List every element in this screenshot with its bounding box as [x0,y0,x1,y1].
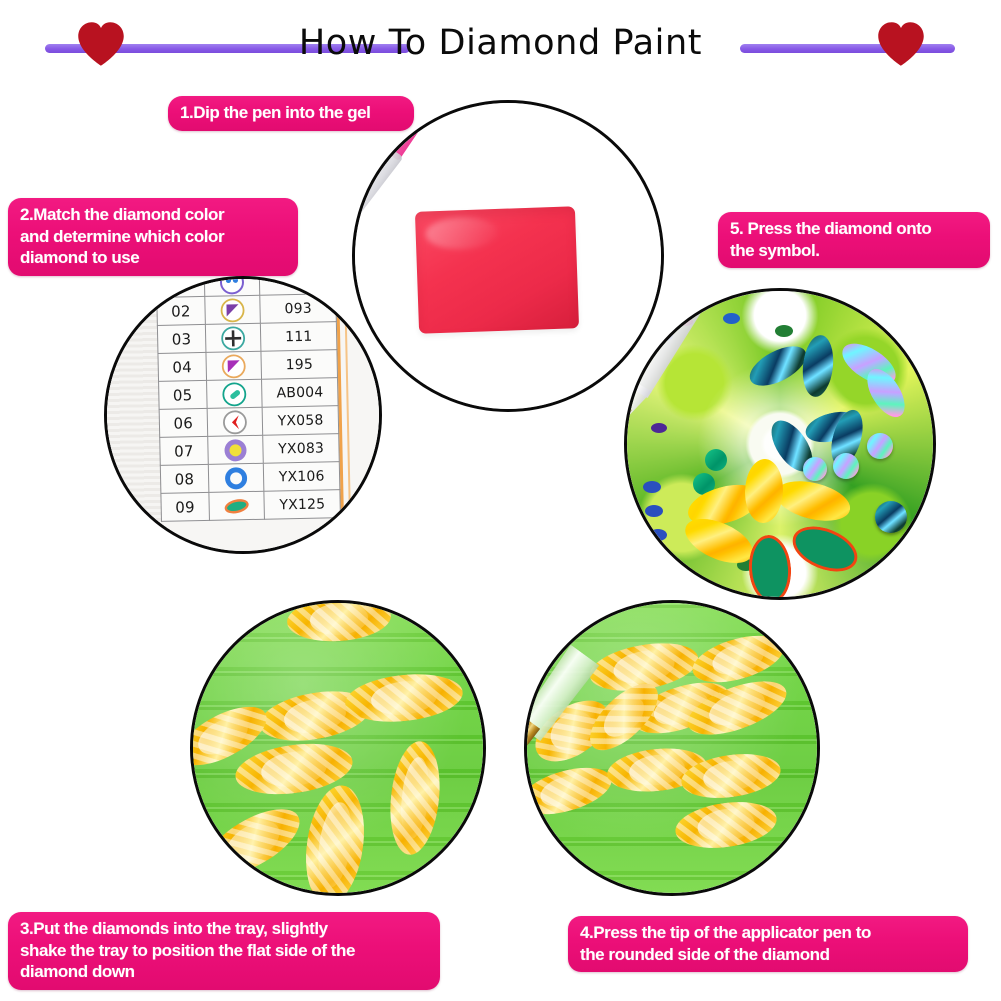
step-5-label-line-1: 5. Press the diamond onto [730,218,978,240]
page-title: How To Diamond Paint [0,20,1001,66]
step-2-label-line-2: and determine which color [20,226,286,248]
slanted-bar-icon [221,381,248,408]
chart-orange-stripe-thin [344,279,353,551]
gem [803,457,827,481]
gem-yellow [772,474,854,527]
table-row: 02 093 [157,294,337,326]
chart-symbol-cell [204,279,260,296]
chart-no-cell: 07 [160,436,208,465]
open-ring-icon [223,465,250,492]
step-5-label-line-2: the symbol. [730,240,978,262]
color-chart-table: 020 02 093 03 [156,279,341,522]
step-3-label-line-1: 3.Put the diamonds into the tray, slight… [20,918,428,940]
step-4-label: 4.Press the tip of the applicator pen to… [568,916,968,972]
chart-no-cell: 04 [158,352,206,381]
chart-code-cell: 093 [260,294,336,324]
plus-cross-icon [220,325,247,352]
gem [875,501,907,533]
gem [705,449,727,471]
chart-code-cell: 195 [261,350,337,380]
chart-code-cell: AB004 [262,378,338,408]
step-4-label-line-1: 4.Press the tip of the applicator pen to [580,922,956,944]
chart-symbol-cell [206,379,262,408]
chart-code-cell: YX083 [263,434,339,464]
left-arrow-icon [222,409,249,436]
step-3-label-line-2: shake the tray to position the flat side… [20,940,428,962]
quarter-wedge-icon [219,297,246,324]
chart-no-cell: 09 [161,492,209,521]
chart-symbol-cell [206,351,262,380]
step-2-label-line-1: 2.Match the diamond color [20,204,286,226]
gel-square [415,206,579,334]
step-4-photo [524,600,820,896]
chart-code-cell: YX125 [264,490,340,520]
chart-symbol-cell [208,463,264,492]
filled-dot-icon [222,437,249,464]
quarter-wedge-icon [220,353,247,380]
canvas-petal [786,518,864,581]
table-row: 03 111 [157,322,337,354]
leaf-marquise-icon [223,493,250,520]
step-1-photo [352,100,664,412]
chart-code-cell: 111 [261,322,337,352]
step-5-label: 5. Press the diamond onto the symbol. [718,212,990,268]
chart-no-cell: 05 [159,380,207,409]
chart-code-cell: 020 [259,279,335,295]
color-chart-sheet: 020 02 093 03 [107,279,379,551]
step-5-photo [624,288,936,600]
applicator-pen [627,291,718,478]
gem [744,338,813,394]
gem [867,433,893,459]
chart-code-cell: YX106 [264,462,340,492]
chart-no-cell: 03 [157,324,205,353]
step-3-label: 3.Put the diamonds into the tray, slight… [8,912,440,990]
chart-no-cell: 06 [159,408,207,437]
table-row: 05 AB004 [159,378,339,410]
table-row: 04 195 [158,350,338,382]
step-3-photo [190,600,486,896]
chart-symbol-cell [204,295,260,324]
chart-symbol-cell [207,407,263,436]
double-dot-icon [219,279,246,295]
canvas-petal [747,534,794,597]
chart-no-cell: 02 [157,296,205,325]
table-row: 08 YX106 [160,462,340,494]
gem [800,334,836,399]
gem-yellow-active [744,458,784,523]
chart-no-cell [156,279,204,297]
table-row: 09 YX125 [161,490,341,522]
chart-symbol-cell [205,323,261,352]
chart-code-cell: YX058 [262,406,338,436]
header: How To Diamond Paint [0,0,1001,86]
step-4-label-line-2: the rounded side of the diamond [580,944,956,966]
chart-no-cell: 08 [160,464,208,493]
step-2-photo: 020 02 093 03 [104,276,382,554]
gem [833,453,859,479]
table-row: 07 YX083 [160,434,340,466]
table-row: 06 YX058 [159,406,339,438]
step-2-label-line-3: diamond to use [20,247,286,269]
step-2-label: 2.Match the diamond color and determine … [8,198,298,276]
chart-symbol-cell [209,491,265,520]
infographic-canvas: How To Diamond Paint 1.Dip the pen into … [0,0,1001,1001]
chart-symbol-cell [207,435,263,464]
step-3-label-line-3: diamond down [20,961,428,983]
